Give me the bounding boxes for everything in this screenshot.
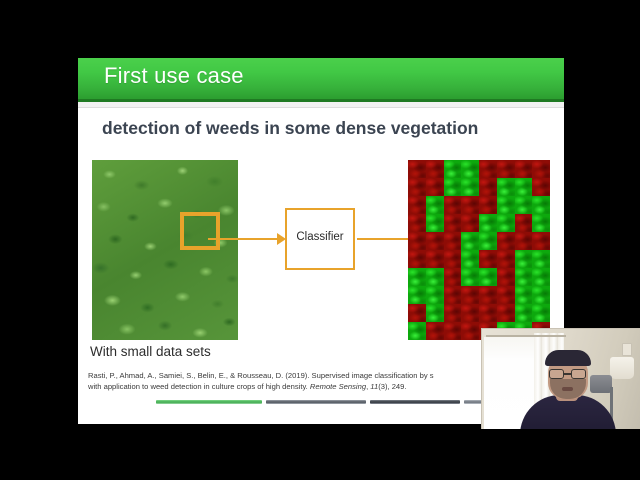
classified-tile [426, 304, 444, 323]
input-vegetation-image [92, 160, 238, 340]
glasses-bridge [564, 373, 571, 375]
classified-tile [461, 322, 479, 340]
citation-journal: Remote Sensing [310, 382, 366, 391]
classified-tile [497, 250, 515, 269]
classified-tile [461, 178, 479, 197]
screen-root: First use case detection of weeds in som… [0, 0, 640, 480]
glasses-lens-right [571, 369, 586, 379]
classified-tile [444, 268, 462, 287]
classified-tile [497, 214, 515, 233]
classified-tile [532, 304, 550, 323]
citation-volume: 11 [370, 382, 378, 391]
classified-tile [461, 286, 479, 305]
citation-line-2-pre: with application to weed detection in cu… [88, 382, 310, 391]
classified-tile [426, 268, 444, 287]
glasses-lens-left [549, 369, 564, 379]
classified-tile [444, 286, 462, 305]
classified-tile [408, 196, 426, 215]
classified-tile [532, 250, 550, 269]
classified-tile [408, 160, 426, 179]
classifier-label: Classifier [287, 231, 353, 243]
classified-tile [479, 232, 497, 251]
classified-tile [408, 286, 426, 305]
webcam-lamp-shade [610, 357, 634, 379]
classified-tile [444, 214, 462, 233]
classified-tile [408, 178, 426, 197]
classified-tile [497, 160, 515, 179]
classified-tile [444, 196, 462, 215]
classified-tile [515, 304, 533, 323]
classifier-box: Classifier [285, 208, 355, 270]
classified-tile [426, 196, 444, 215]
classified-tile [444, 322, 462, 340]
webcam-overlay[interactable] [481, 328, 640, 429]
slide-title-banner: First use case [78, 58, 564, 99]
classified-tile [408, 268, 426, 287]
citation-line-2-post: (3), 249. [378, 382, 406, 391]
citation-line-1: Rasti, P., Ahmad, A., Samiei, S., Belin,… [88, 371, 434, 380]
classified-tile [479, 286, 497, 305]
classified-tile [532, 232, 550, 251]
slide-caption: With small data sets [90, 344, 211, 359]
arrow-input-to-classifier-line [208, 238, 283, 240]
classified-tile [515, 160, 533, 179]
classified-tile [515, 286, 533, 305]
classified-tile [515, 196, 533, 215]
webcam-presenter-cap [545, 350, 591, 366]
classified-tile [408, 322, 426, 340]
classified-tile [497, 286, 515, 305]
classified-tile [515, 178, 533, 197]
classified-tile [408, 250, 426, 269]
title-separator [78, 102, 564, 108]
classified-tile [426, 214, 444, 233]
classified-tile [461, 160, 479, 179]
classified-tile [444, 304, 462, 323]
classified-tile [461, 214, 479, 233]
classified-tile [497, 178, 515, 197]
classified-tile [444, 178, 462, 197]
classified-tile [532, 160, 550, 179]
classified-tile [497, 232, 515, 251]
classified-tile [532, 196, 550, 215]
classified-tile [444, 250, 462, 269]
classified-tile [426, 178, 444, 197]
webcam-presenter-mouth [562, 387, 573, 391]
classified-tile [497, 304, 515, 323]
selection-square-overlay [180, 212, 220, 250]
classified-tile [426, 250, 444, 269]
classified-tile [479, 160, 497, 179]
classified-tile [479, 178, 497, 197]
webcam-wall-socket [622, 343, 632, 356]
classified-tile [408, 304, 426, 323]
classified-tile [515, 268, 533, 287]
classified-tile [479, 304, 497, 323]
classified-tile [497, 268, 515, 287]
classified-tile [515, 232, 533, 251]
slide-title: First use case [104, 63, 244, 89]
classified-tile [532, 214, 550, 233]
output-classified-image [408, 160, 550, 340]
classified-tile [497, 196, 515, 215]
glasses-icon [548, 369, 588, 379]
classified-tile [532, 268, 550, 287]
classified-tile [461, 196, 479, 215]
classified-tile [461, 304, 479, 323]
classified-tile [515, 250, 533, 269]
classified-tile [532, 286, 550, 305]
bar-gray-1 [266, 400, 365, 404]
pipeline-diagram: Classifier [78, 158, 564, 343]
classified-tile [408, 232, 426, 251]
classified-tile [461, 268, 479, 287]
webcam-lamp-shade-secondary [590, 375, 612, 393]
classified-tile [426, 232, 444, 251]
classified-tile [426, 160, 444, 179]
bar-gray-2 [370, 400, 460, 404]
classified-tile [479, 214, 497, 233]
classified-tile [479, 268, 497, 287]
classified-tile [461, 232, 479, 251]
classified-tile [444, 232, 462, 251]
slide-subtitle: detection of weeds in some dense vegetat… [102, 118, 478, 139]
classified-tile [479, 250, 497, 269]
classified-tile [426, 286, 444, 305]
classified-tile [532, 178, 550, 197]
classified-tile [479, 196, 497, 215]
classified-tile [444, 160, 462, 179]
webcam-curtain-rod [486, 335, 566, 337]
classified-tile [461, 250, 479, 269]
classified-tile [408, 214, 426, 233]
bar-green [156, 400, 262, 404]
classified-tile [426, 322, 444, 340]
classified-tile [515, 214, 533, 233]
